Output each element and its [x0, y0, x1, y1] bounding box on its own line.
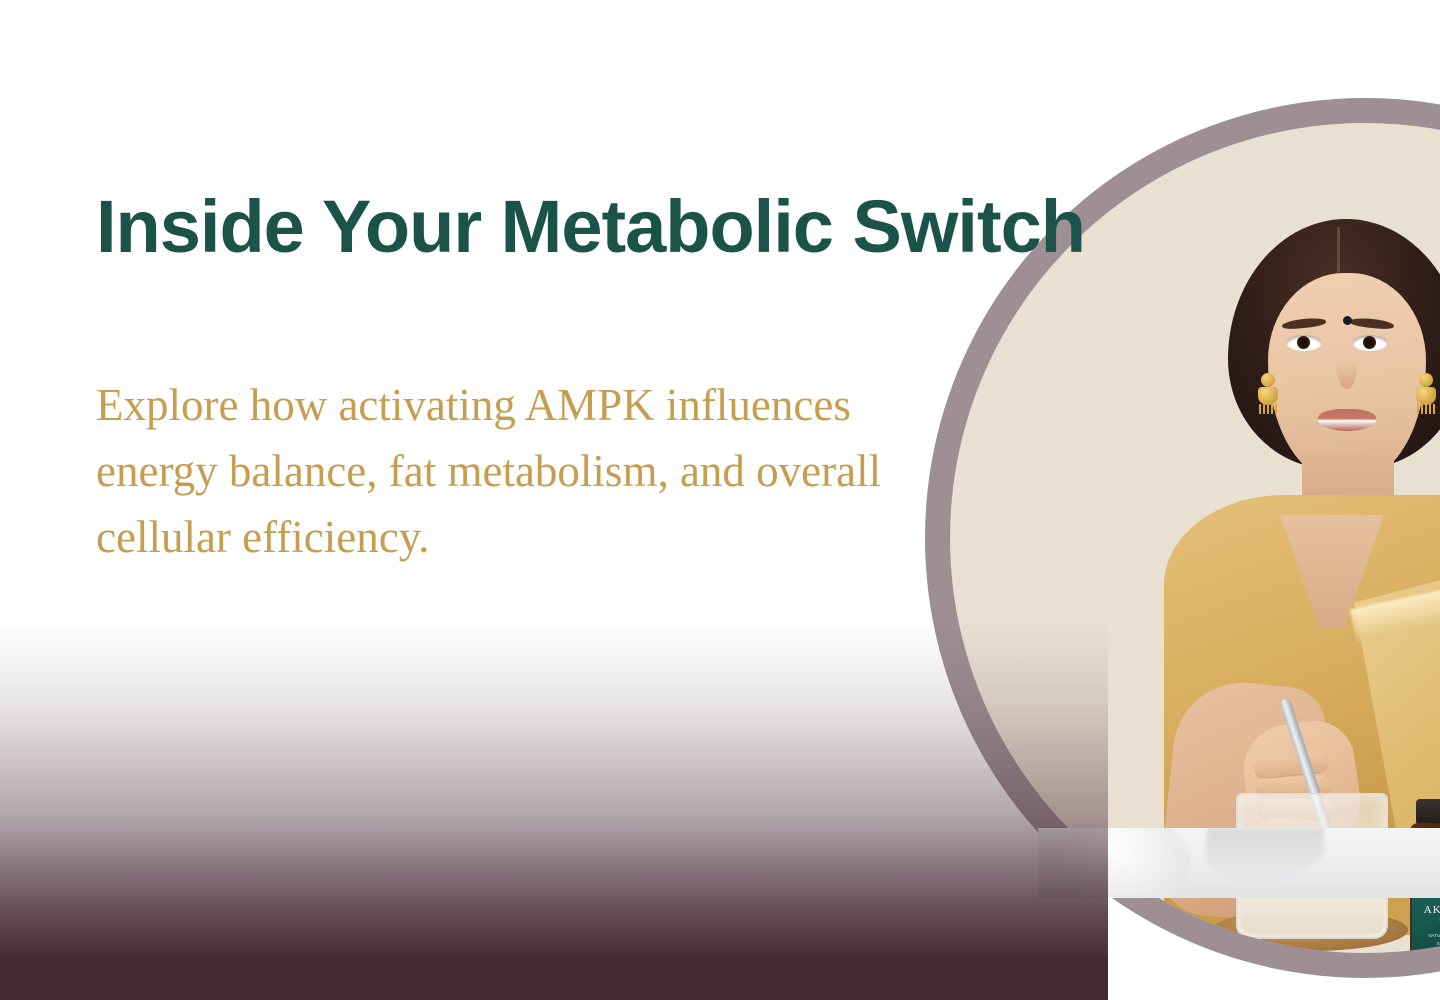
finger: [1258, 798, 1332, 819]
face: [1268, 273, 1426, 481]
nose: [1337, 345, 1357, 389]
bindi: [1343, 316, 1352, 325]
earring-bell-left: [1258, 387, 1278, 405]
bottle-brand-name: AKSHOHI: [1424, 904, 1440, 916]
neckline: [1280, 515, 1384, 627]
mouth: [1318, 409, 1376, 431]
iris-left: [1297, 336, 1310, 349]
finger: [1253, 751, 1329, 779]
page-title: Inside Your Metabolic Switch: [96, 190, 1085, 264]
earring-fringe-right: [1417, 404, 1435, 414]
hair: [1228, 219, 1440, 469]
slide-canvas: AKSHOHI NATURALS NATURAL AYURVEDIC SUPPL…: [0, 0, 1440, 1000]
wooden-coaster: [1212, 909, 1408, 951]
earring-right: [1416, 373, 1436, 419]
iris-right: [1363, 336, 1376, 349]
earring-bell-right: [1416, 387, 1436, 405]
surface-highlight: [1062, 828, 1190, 898]
earring-left: [1258, 373, 1278, 419]
earring-fringe-left: [1259, 404, 1277, 414]
neck: [1302, 453, 1394, 531]
eye-right: [1352, 335, 1388, 351]
finger: [1256, 775, 1331, 799]
eye-left: [1286, 335, 1322, 351]
page-subtitle: Explore how activating AMPK influences e…: [96, 372, 976, 570]
saree-highlight: [1350, 547, 1440, 643]
table-surface-strip: [1038, 828, 1440, 898]
bottom-gradient-overlay: [0, 620, 1108, 1000]
earring-stud-left: [1261, 373, 1275, 387]
surface-reflection: [1206, 828, 1324, 880]
eyebrow-left: [1282, 317, 1327, 331]
bottle-description: NATURAL AYURVEDIC SUPPLEMENT: [1412, 932, 1440, 947]
earring-stud-right: [1419, 373, 1433, 387]
bottle-cap: [1416, 799, 1440, 825]
eyebrow-right: [1350, 317, 1395, 331]
